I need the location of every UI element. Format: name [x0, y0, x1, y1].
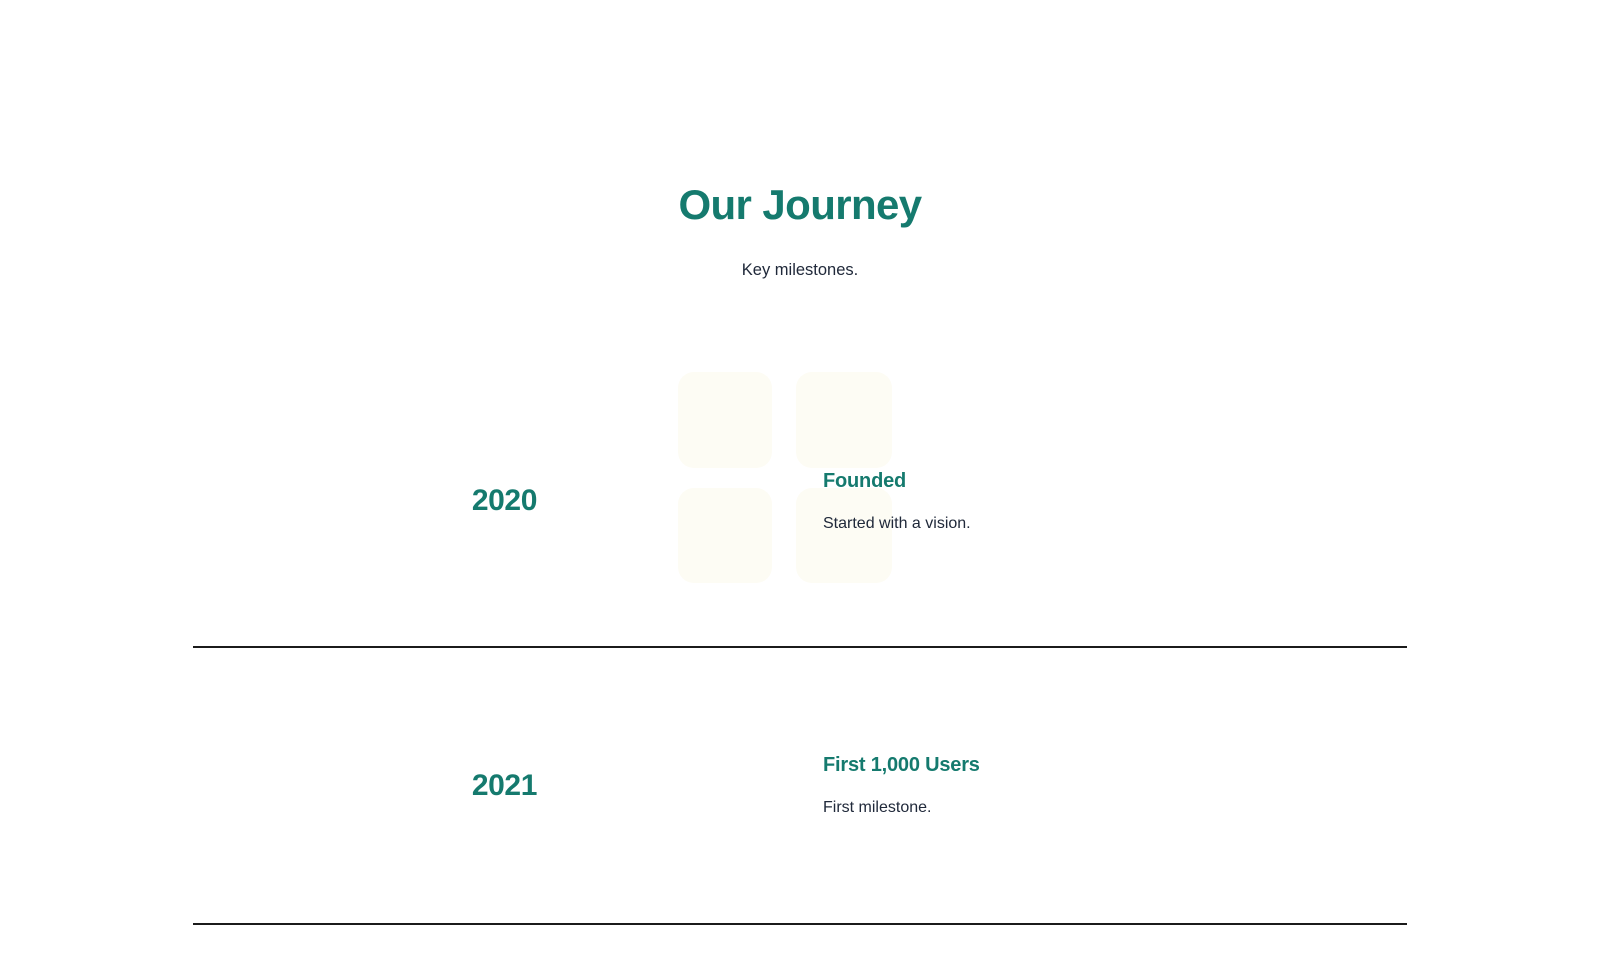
our-journey-page: Our Journey Key milestones. 2020 Founded…: [0, 0, 1600, 978]
timeline-year-column: 2020: [193, 482, 537, 520]
milestone-title: First 1,000 Users: [823, 751, 1407, 779]
timeline-content-column: First 1,000 Users First milestone.: [537, 751, 1407, 820]
timeline-content-column: Founded Started with a vision.: [537, 467, 1407, 536]
deco-square-top-right-icon: [796, 372, 892, 468]
timeline-year-label: 2021: [472, 767, 537, 805]
timeline-year-column: 2021: [193, 767, 537, 805]
timeline-row[interactable]: 2020 Founded Started with a vision.: [193, 356, 1407, 648]
journey-header: Our Journey Key milestones.: [0, 178, 1600, 282]
page-subtitle: Key milestones.: [0, 232, 1600, 282]
page-title: Our Journey: [0, 178, 1600, 232]
milestone-description: Started with a vision.: [823, 495, 1407, 536]
milestone-title: Founded: [823, 467, 1407, 495]
timeline-year-label: 2020: [472, 482, 537, 520]
deco-square-top-left-icon: [678, 372, 772, 468]
milestone-description: First milestone.: [823, 779, 1407, 820]
timeline-row[interactable]: 2021 First 1,000 Users First milestone.: [193, 648, 1407, 925]
timeline-list: 2020 Founded Started with a vision. 2021…: [193, 356, 1407, 925]
